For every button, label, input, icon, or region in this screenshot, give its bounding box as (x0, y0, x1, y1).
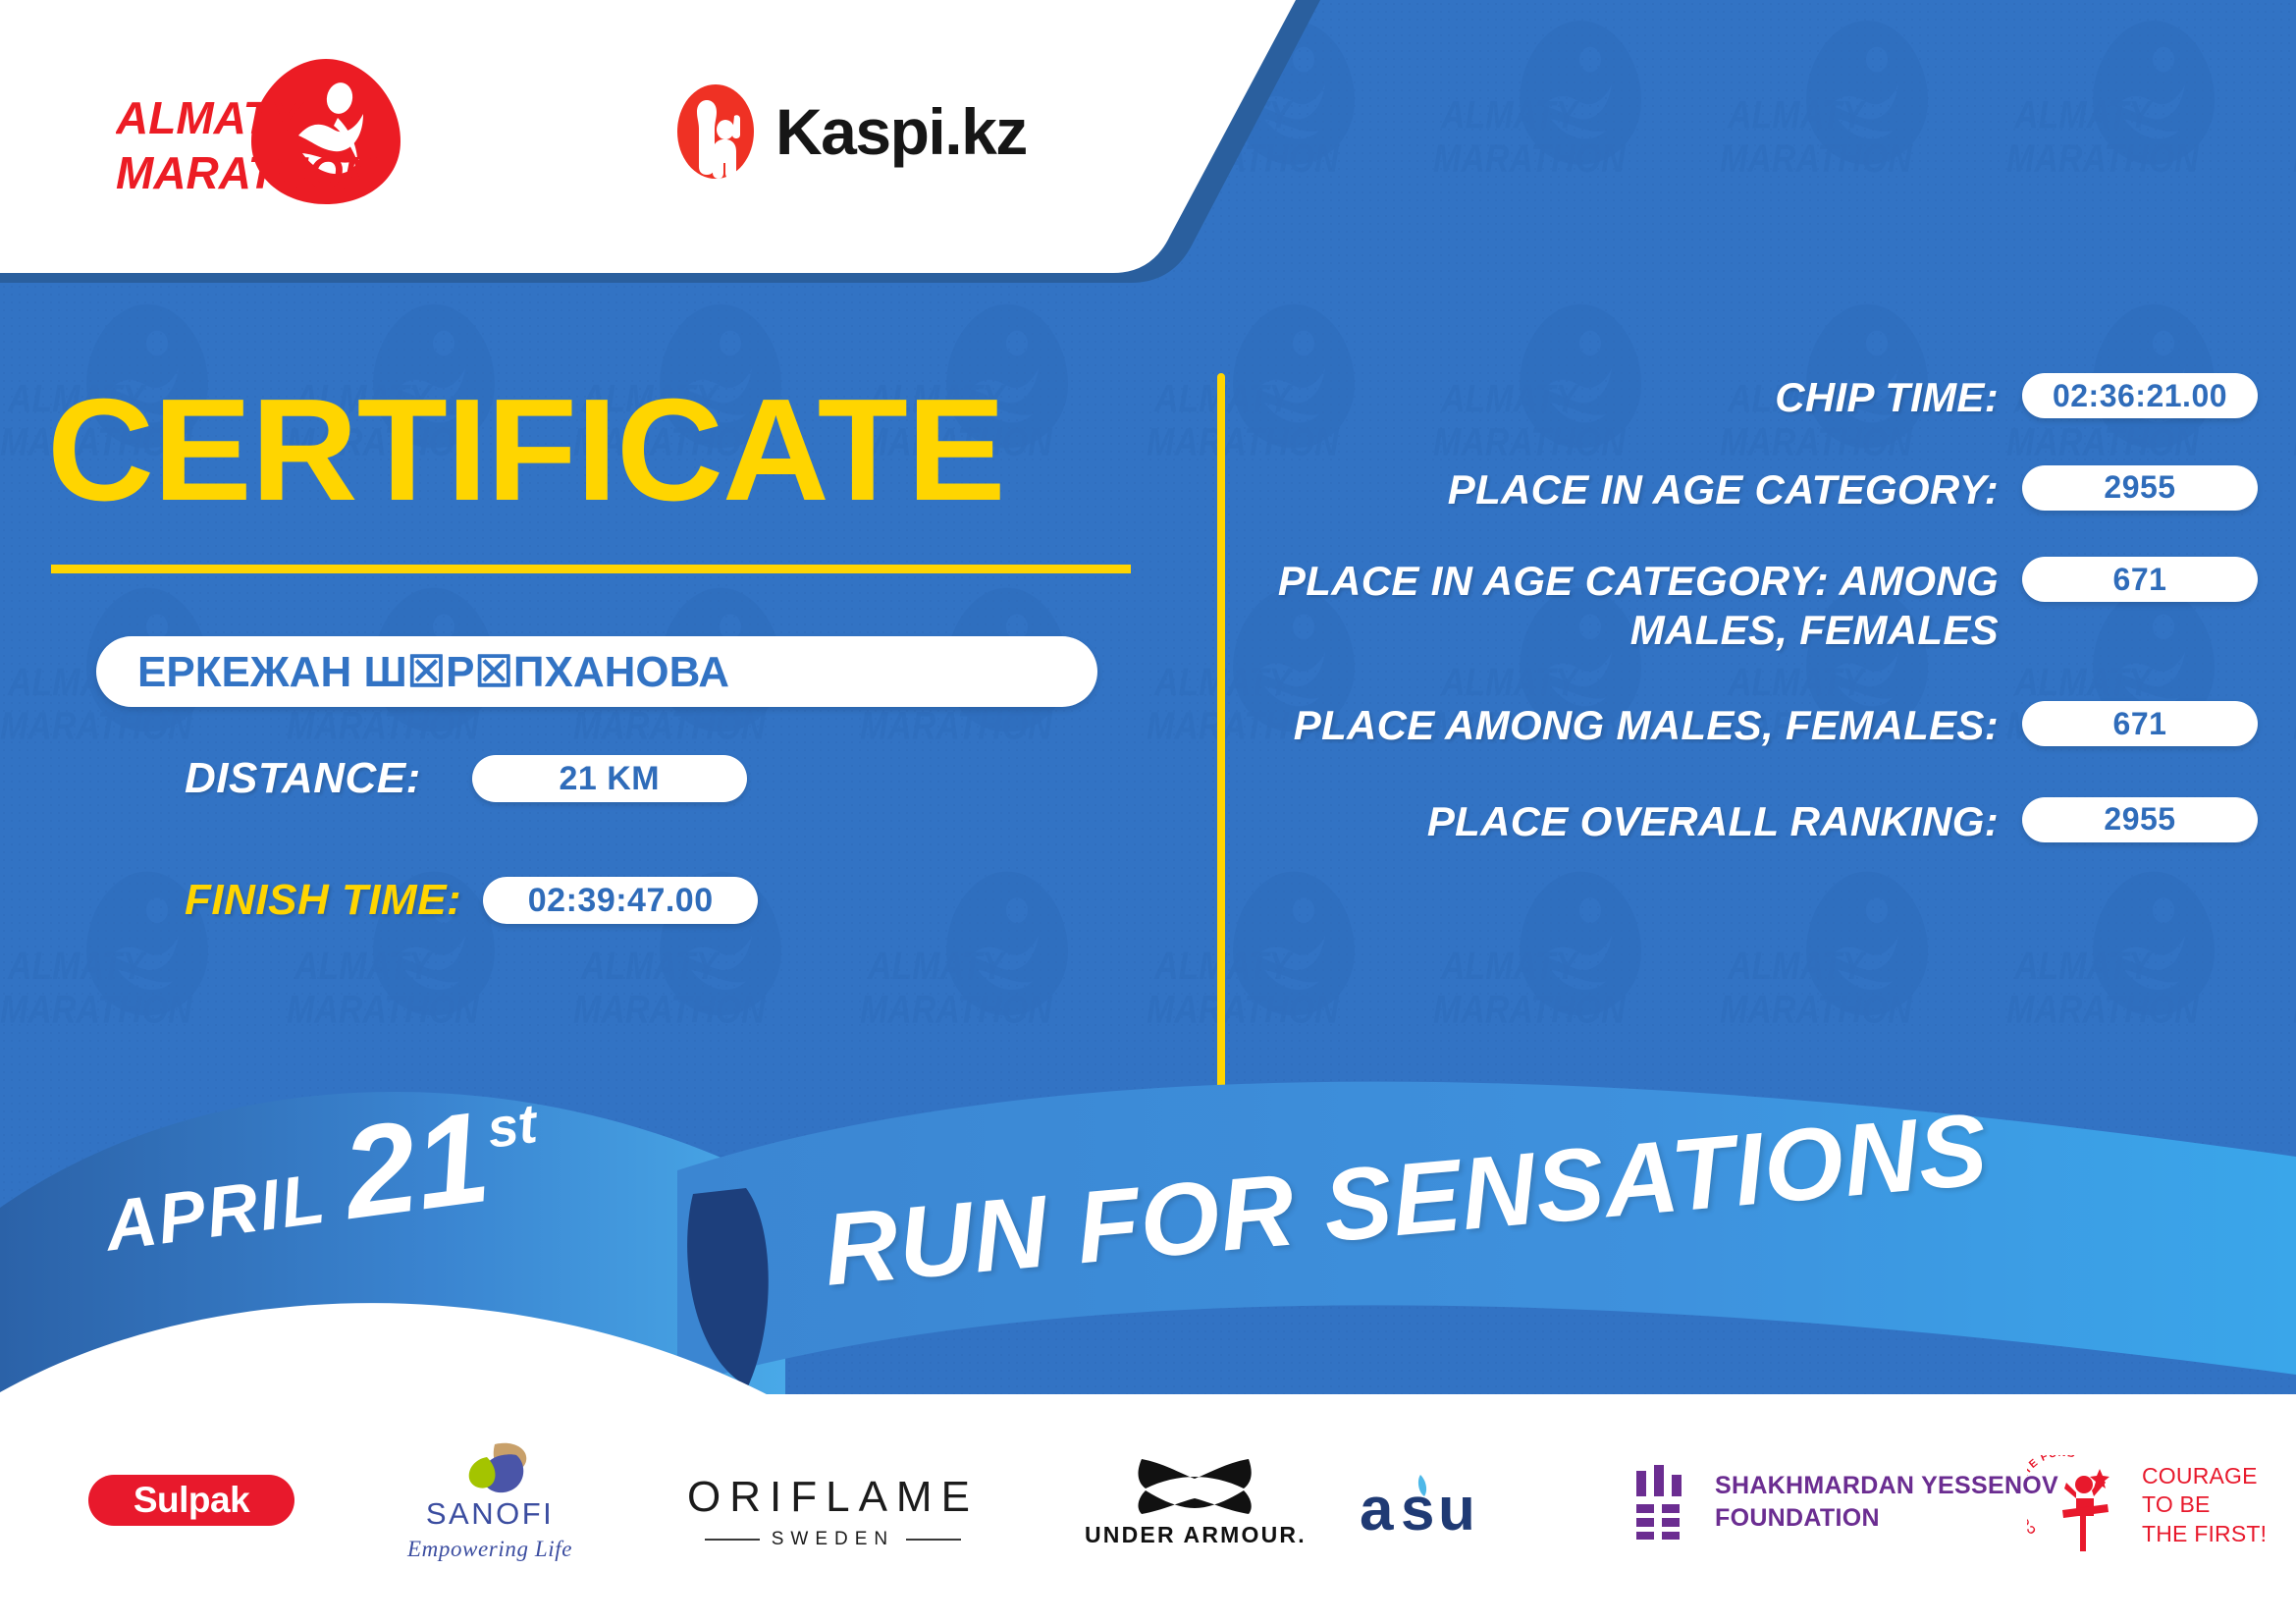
results-column: CHIP TIME: 02:36:21.00 PLACE IN AGE CATE… (1276, 373, 2258, 879)
under-armour-logo: UNDER ARMOUR. (1085, 1455, 1307, 1548)
column-divider (1217, 373, 1225, 1100)
finish-time-row: FINISH TIME: 02:39:47.00 (185, 876, 758, 925)
kaspi-mark-icon (677, 82, 754, 181)
result-value: 671 (2113, 706, 2167, 742)
asu-mark-icon: a s u (1360, 1471, 1517, 1542)
result-value-pill: 2955 (2022, 797, 2258, 842)
logo-line-1: ALMATY (116, 92, 305, 143)
rule-left (705, 1539, 760, 1541)
result-value-pill: 671 (2022, 701, 2258, 746)
courage-wordmark: COURAGE TO BE THE FIRST! (2142, 1462, 2267, 1548)
rule-right (906, 1539, 961, 1541)
sponsor-oriflame: ORIFLAME SWEDEN (687, 1473, 979, 1550)
result-label: PLACE AMONG MALES, FEMALES: (1276, 701, 2022, 750)
oriflame-wordmark: ORIFLAME (687, 1473, 979, 1522)
oriflame-logo: ORIFLAME SWEDEN (687, 1473, 979, 1550)
result-row: PLACE OVERALL RANKING: 2955 (1276, 797, 2258, 846)
sponsor-yessenov-foundation: SHAKHMARDAN YESSENOV FOUNDATION (1634, 1465, 2058, 1540)
finish-time-value: 02:39:47.00 (528, 882, 714, 920)
yessenov-line-2: FOUNDATION (1715, 1502, 2058, 1535)
courage-line-3: THE FIRST! (2142, 1520, 2267, 1548)
page-title: CERTIFICATE (47, 378, 1005, 523)
title-underline (51, 565, 1131, 573)
result-row: CHIP TIME: 02:36:21.00 (1276, 373, 2258, 422)
result-label: PLACE IN AGE CATEGORY: AMONG MALES, FEMA… (1276, 557, 2022, 654)
yessenov-mark-icon (1634, 1465, 1691, 1540)
event-day: 21 (336, 1092, 496, 1239)
result-value: 2955 (2104, 469, 2175, 506)
result-row: PLACE IN AGE CATEGORY: 2955 (1276, 465, 2258, 514)
sanofi-mark-icon (446, 1441, 534, 1494)
result-label: CHIP TIME: (1276, 373, 2022, 422)
header-content: ALMATY MARATHON Kaspi.kz (0, 0, 1374, 285)
oriflame-tagline: SWEDEN (772, 1529, 894, 1550)
finish-time-value-pill: 02:39:47.00 (483, 877, 758, 924)
distance-label: DISTANCE: (185, 754, 421, 803)
svg-text:a: a (1360, 1476, 1394, 1542)
svg-text:u: u (1438, 1476, 1475, 1542)
almaty-marathon-logo: ALMATY MARATHON (116, 51, 440, 208)
result-row: PLACE IN AGE CATEGORY: AMONG MALES, FEMA… (1276, 557, 2258, 654)
sulpak-logo: Sulpak (88, 1475, 294, 1526)
result-value: 2955 (2104, 801, 2175, 838)
under-armour-mark-icon (1134, 1455, 1256, 1516)
event-day-suffix: st (484, 1091, 541, 1161)
under-armour-wordmark: UNDER ARMOUR. (1085, 1522, 1307, 1548)
courage-mark-icon: CORPORATE FUND (2027, 1455, 2130, 1555)
sanofi-tagline: Empowering Life (407, 1537, 572, 1562)
result-label: PLACE OVERALL RANKING: (1276, 797, 2022, 846)
corporate-fund-arc: CORPORATE FUND (2027, 1455, 2077, 1537)
sponsor-bar: Sulpak SANOFI Empowering Life ORIFLAME S… (0, 1394, 2296, 1624)
yessenov-wordmark: SHAKHMARDAN YESSENOV FOUNDATION (1715, 1470, 2058, 1535)
sponsor-sulpak: Sulpak (88, 1475, 294, 1526)
distance-value: 21 KM (559, 760, 660, 798)
result-value-pill: 2955 (2022, 465, 2258, 511)
result-row: PLACE AMONG MALES, FEMALES: 671 (1276, 701, 2258, 750)
result-label: PLACE IN AGE CATEGORY: (1276, 465, 2022, 514)
asu-logo: a s u (1360, 1471, 1517, 1542)
courage-line-2: TO BE (2142, 1490, 2267, 1519)
certificate-canvas: ALMATY MARATHON ALMATY MAR (0, 0, 2296, 1624)
svg-text:s: s (1401, 1476, 1434, 1542)
participant-name-field: ЕРКЕЖАН Ш☒Р☒ПХАНОВА (96, 636, 1097, 707)
yessenov-line-1: SHAKHMARDAN YESSENOV (1715, 1470, 2058, 1502)
distance-row: DISTANCE: 21 KM (185, 754, 747, 803)
distance-value-pill: 21 KM (472, 755, 747, 802)
result-value-pill: 02:36:21.00 (2022, 373, 2258, 418)
result-value: 02:36:21.00 (2053, 378, 2227, 414)
result-value-pill: 671 (2022, 557, 2258, 602)
finish-time-label: FINISH TIME: (185, 876, 461, 925)
kaspi-wordmark: Kaspi.kz (775, 99, 1027, 164)
courage-line-1: COURAGE (2142, 1462, 2267, 1490)
left-column: CERTIFICATE ЕРКЕЖАН Ш☒Р☒ПХАНОВА DISTANCE… (0, 324, 1217, 1110)
sponsor-under-armour: UNDER ARMOUR. (1085, 1455, 1307, 1548)
result-value: 671 (2113, 562, 2167, 598)
courage-logo: CORPORATE FUND COURAGE TO BE (2027, 1455, 2267, 1555)
sanofi-logo: SANOFI Empowering Life (407, 1441, 572, 1562)
svg-text:CORPORATE FUND: CORPORATE FUND (2027, 1455, 2077, 1537)
participant-name-value: ЕРКЕЖАН Ш☒Р☒ПХАНОВА (137, 647, 729, 697)
oriflame-sub: SWEDEN (687, 1529, 979, 1550)
kaspi-logo: Kaspi.kz (677, 82, 1027, 181)
yessenov-logo: SHAKHMARDAN YESSENOV FOUNDATION (1634, 1465, 2058, 1540)
sponsor-corporate-fund: CORPORATE FUND COURAGE TO BE (2027, 1455, 2267, 1555)
logo-line-2: MARATHON (116, 147, 377, 198)
sponsor-sanofi: SANOFI Empowering Life (407, 1441, 572, 1562)
sulpak-label: Sulpak (133, 1480, 249, 1521)
sanofi-wordmark: SANOFI (426, 1496, 554, 1532)
sponsor-asu: a s u (1360, 1471, 1517, 1542)
